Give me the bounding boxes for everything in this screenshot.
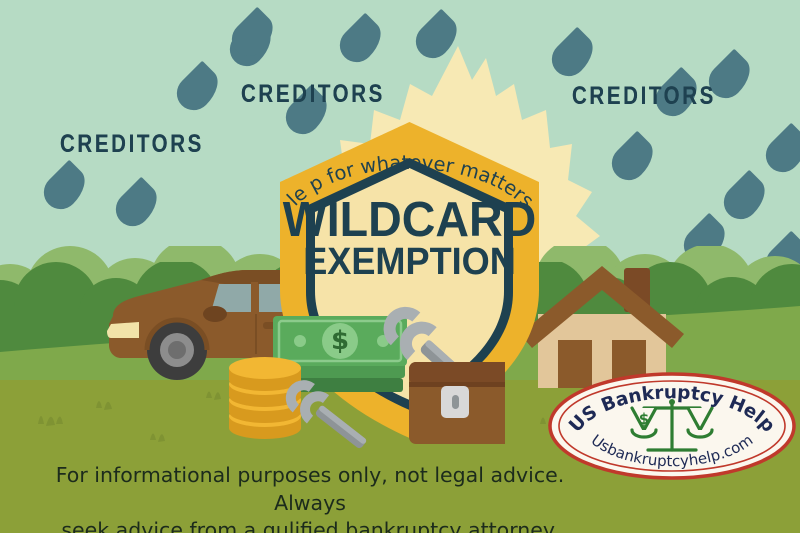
logo-dollar-symbol: $ — [639, 410, 649, 428]
creditors-label: CREDITORS — [60, 130, 204, 159]
infographic-canvas: CREDITORSCREDITORSCREDITORS — [0, 0, 800, 533]
creditors-label: CREDITORS — [241, 80, 385, 109]
creditors-label: CREDITORS — [572, 82, 716, 111]
svg-text:$: $ — [331, 326, 349, 356]
disclaimer-line-1: For informational purposes only, not leg… — [30, 462, 590, 517]
shield-title-line2: EXEMPTION — [279, 241, 540, 284]
shield-title-line1: WILDCARD — [279, 192, 540, 248]
protected-assets-group: $ — [225, 300, 505, 450]
disclaimer-line-2: seek advice from a qulified bankruptcy a… — [30, 517, 590, 533]
disclaimer-text: For informational purposes only, not leg… — [30, 462, 590, 533]
briefcase-illustration — [409, 362, 505, 444]
